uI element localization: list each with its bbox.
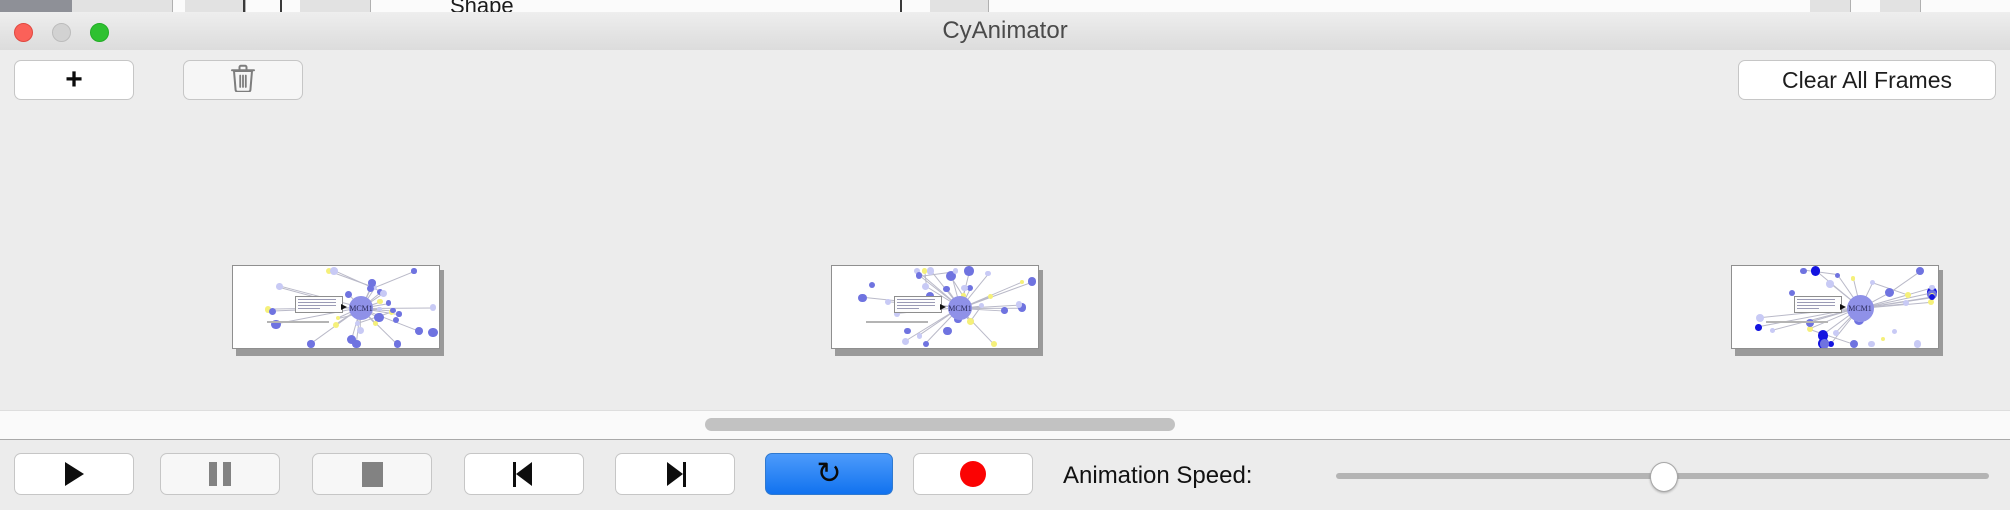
network-node	[333, 322, 339, 328]
network-caption	[866, 321, 928, 323]
network-node	[953, 268, 958, 273]
animation-speed-slider[interactable]	[1336, 473, 1989, 479]
timeline-scrollbar-thumb[interactable]	[705, 418, 1175, 431]
network-node	[394, 340, 402, 348]
network-node	[964, 266, 973, 275]
network-node	[927, 267, 935, 275]
network-annotation-line	[897, 308, 919, 309]
network-node	[1820, 339, 1829, 348]
network-node	[1020, 280, 1024, 284]
network-node	[1770, 328, 1775, 333]
network-node	[1755, 324, 1762, 331]
network-caption	[267, 321, 329, 323]
network-hub-node: MCM1	[948, 296, 972, 320]
network-node	[1881, 337, 1885, 341]
background-tab	[1810, 0, 1851, 12]
network-node	[1929, 294, 1936, 301]
network-annotation-line	[298, 308, 320, 309]
network-node	[1001, 307, 1008, 314]
background-mark	[280, 0, 282, 12]
network-node	[1826, 280, 1834, 288]
background-tab	[72, 0, 173, 12]
network-node	[1850, 340, 1858, 348]
network-annotation-line	[1797, 299, 1835, 300]
skip-forward-button[interactable]	[615, 453, 735, 495]
add-frame-button[interactable]: +	[14, 60, 134, 100]
network-annotation-line	[1797, 308, 1819, 309]
window-title: CyAnimator	[0, 12, 2010, 50]
network-node	[1892, 329, 1897, 334]
network-node	[411, 268, 416, 273]
skip-back-icon	[513, 462, 535, 487]
network-node	[330, 267, 338, 275]
network-node	[1870, 280, 1875, 285]
network-annotation-line	[897, 305, 935, 306]
network-node	[943, 327, 952, 336]
network-edge	[370, 271, 414, 290]
network-node	[415, 327, 423, 335]
network-node	[380, 290, 387, 297]
timeline-frame[interactable]: MCM1	[1731, 265, 1941, 353]
network-hub-node: MCM1	[1847, 295, 1874, 322]
network-node	[1811, 266, 1820, 275]
network-thumbnail: MCM1	[1731, 265, 1939, 349]
network-node	[917, 333, 923, 339]
pause-button[interactable]	[160, 453, 280, 495]
skip-forward-icon	[664, 462, 686, 487]
loop-icon: ↻	[816, 459, 841, 489]
network-node	[904, 328, 910, 334]
network-annotation-line	[1797, 302, 1835, 303]
play-button[interactable]	[14, 453, 134, 495]
network-annotation-arrow-icon	[1840, 304, 1846, 310]
clear-all-frames-button[interactable]: Clear All Frames	[1738, 60, 1996, 100]
network-node	[377, 299, 383, 305]
network-thumbnail: MCM1	[232, 265, 440, 349]
network-node	[991, 341, 997, 347]
network-node	[1807, 326, 1813, 332]
network-edge	[334, 270, 383, 293]
cyanimator-window: Shape CyAnimator + Clear All Frames	[0, 0, 2010, 510]
delete-frame-button[interactable]	[183, 60, 303, 100]
network-annotation-arrow-icon	[940, 304, 946, 310]
network-node	[988, 294, 993, 299]
pause-icon	[209, 462, 231, 486]
network-annotation-line	[1797, 305, 1835, 306]
network-node	[393, 317, 399, 323]
network-annotation-line	[298, 305, 336, 306]
network-node	[943, 286, 950, 293]
network-node	[1929, 285, 1934, 290]
network-node	[1885, 288, 1894, 297]
network-node	[1835, 273, 1840, 278]
network-node	[1916, 267, 1925, 276]
network-annotation-line	[897, 299, 935, 300]
toolbar: + Clear All Frames	[0, 50, 2010, 111]
network-node	[885, 299, 891, 305]
network-node	[1868, 341, 1875, 348]
network-node	[430, 304, 437, 311]
trash-icon	[230, 64, 256, 97]
network-annotation-arrow-icon	[341, 304, 347, 310]
clear-all-frames-label: Clear All Frames	[1782, 67, 1952, 94]
network-node	[352, 340, 361, 349]
network-node	[1028, 277, 1036, 285]
background-tab	[300, 0, 371, 12]
background-tab	[1880, 0, 1921, 12]
network-node	[1903, 300, 1909, 306]
network-annotation-line	[298, 302, 336, 303]
network-node	[428, 328, 438, 338]
network-node	[377, 307, 381, 311]
skip-back-button[interactable]	[464, 453, 584, 495]
network-node	[386, 300, 391, 305]
network-node	[1828, 341, 1834, 347]
network-node	[1756, 314, 1764, 322]
network-node	[985, 271, 991, 277]
play-icon	[65, 462, 84, 486]
animation-speed-slider-thumb[interactable]	[1650, 462, 1678, 492]
network-node	[269, 308, 276, 315]
network-node	[858, 294, 866, 302]
loop-button[interactable]: ↻	[765, 453, 893, 495]
network-node	[967, 285, 973, 291]
network-node	[307, 340, 314, 347]
stop-icon	[362, 462, 383, 487]
network-node	[1914, 340, 1921, 347]
record-button[interactable]	[913, 453, 1033, 495]
network-thumbnail: MCM1	[831, 265, 1039, 349]
network-node	[961, 285, 967, 291]
network-node	[902, 338, 910, 346]
background-window-dark-tab	[0, 0, 72, 12]
playback-bar: ↻ Animation Speed:	[0, 439, 2010, 510]
network-caption	[1766, 321, 1828, 323]
timeline-scrollbar[interactable]	[0, 410, 2010, 440]
background-mark	[243, 0, 245, 12]
stop-button[interactable]	[312, 453, 432, 495]
background-tab	[930, 0, 989, 12]
network-node	[396, 311, 401, 316]
background-mark	[900, 0, 902, 12]
network-node	[922, 283, 929, 290]
network-annotation-line	[897, 302, 935, 303]
animation-speed-label: Animation Speed:	[1063, 440, 1252, 510]
network-node	[357, 327, 364, 334]
network-node	[869, 282, 875, 288]
network-node	[355, 321, 360, 326]
network-node	[1905, 292, 1911, 298]
network-node	[1800, 268, 1807, 275]
background-tab	[185, 0, 246, 12]
network-node	[967, 318, 974, 325]
timeline-panel[interactable]: MCM1MCM1MCM1 2131415161718 Seconds	[0, 110, 2010, 405]
timeline-frame[interactable]: MCM1	[831, 265, 1041, 353]
timeline-frame[interactable]: MCM1	[232, 265, 442, 353]
network-node	[1851, 276, 1856, 281]
record-icon	[960, 461, 986, 487]
plus-icon: +	[65, 65, 83, 95]
network-annotation-line	[298, 299, 336, 300]
network-hub-node: MCM1	[349, 296, 373, 320]
network-node	[923, 341, 929, 347]
title-bar: CyAnimator	[0, 12, 2010, 51]
network-node	[276, 283, 283, 290]
